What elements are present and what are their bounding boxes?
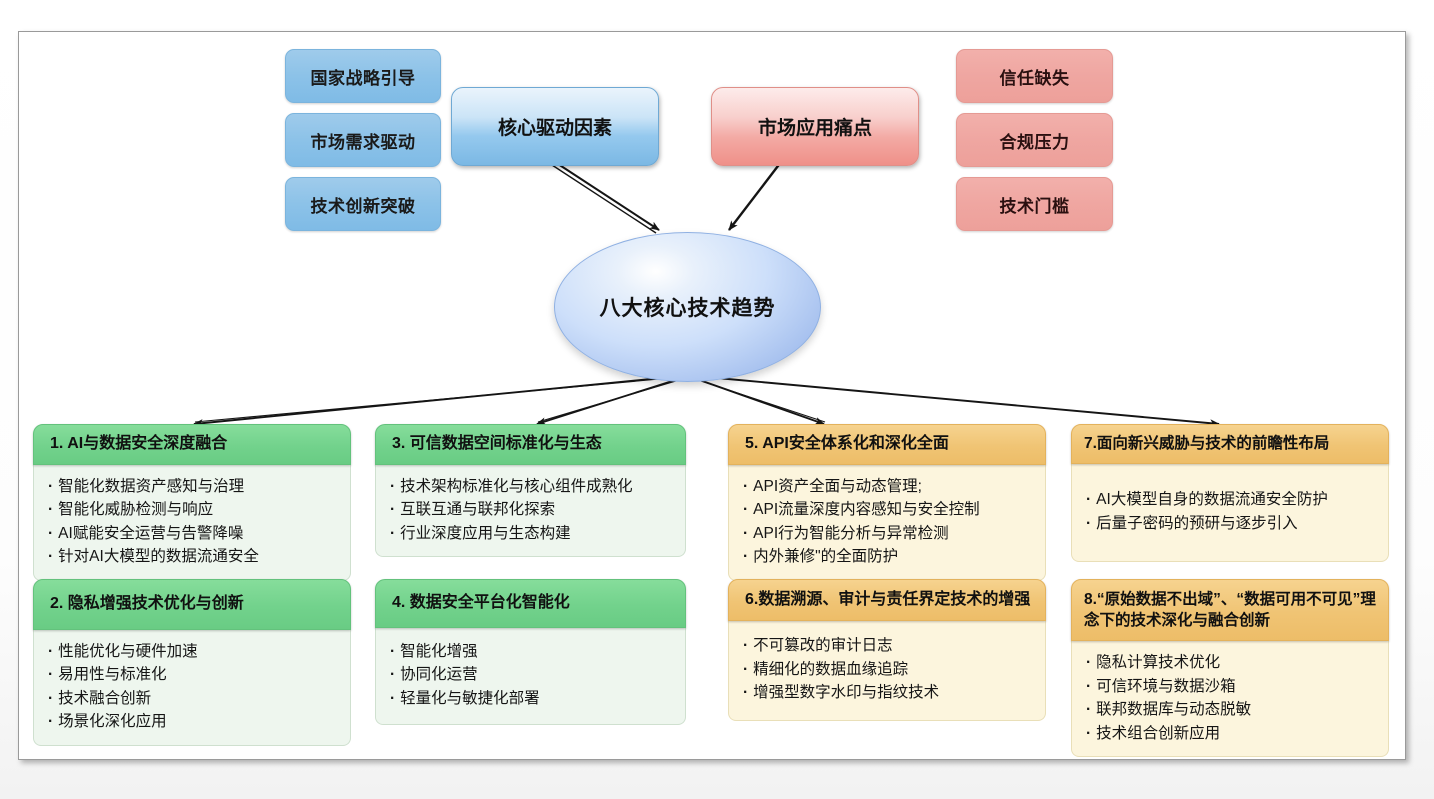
list-item: 针对AI大模型的数据流通安全	[48, 545, 340, 569]
painpoint-chip-1-label: 合规压力	[1000, 128, 1070, 153]
list-item: 技术架构标准化与核心组件成熟化	[390, 475, 675, 499]
market-painpoints-node[interactable]: 市场应用痛点	[711, 87, 919, 166]
trend-card-4-header: 4. 数据安全平台化智能化	[375, 579, 686, 628]
trend-card-4-list: 智能化增强 协同化运营 轻量化与敏捷化部署	[390, 640, 675, 711]
driver-chip-2-label: 技术创新突破	[311, 192, 416, 217]
list-item: 隐私计算技术优化	[1086, 651, 1378, 675]
list-item: 易用性与标准化	[48, 663, 340, 687]
trend-card-4[interactable]: 4. 数据安全平台化智能化 智能化增强 协同化运营 轻量化与敏捷化部署	[375, 579, 686, 725]
trend-card-6[interactable]: 6.数据溯源、审计与责任界定技术的增强 不可篡改的审计日志 精细化的数据血缘追踪…	[728, 579, 1046, 721]
central-hub-label: 八大核心技术趋势	[600, 292, 776, 322]
list-item: 后量子密码的预研与逐步引入	[1086, 512, 1378, 536]
list-item: 智能化增强	[390, 640, 675, 664]
trend-card-8[interactable]: 8.“原始数据不出域”、“数据可用不可见”理念下的技术深化与融合创新 隐私计算技…	[1071, 579, 1389, 757]
painpoint-chip-2-label: 技术门槛	[1000, 192, 1070, 217]
list-item: API流量深度内容感知与安全控制	[743, 498, 1035, 522]
trend-card-6-header: 6.数据溯源、审计与责任界定技术的增强	[728, 579, 1046, 621]
list-item: API资产全面与动态管理;	[743, 475, 1035, 499]
list-item: 协同化运营	[390, 663, 675, 687]
trend-card-7-body: AI大模型自身的数据流通安全防护 后量子密码的预研与逐步引入	[1071, 464, 1389, 562]
list-item: 不可篡改的审计日志	[743, 634, 1035, 658]
trend-card-3-list: 技术架构标准化与核心组件成熟化 互联互通与联邦化探索 行业深度应用与生态构建	[390, 475, 675, 546]
list-item: AI大模型自身的数据流通安全防护	[1086, 488, 1378, 512]
trend-card-3[interactable]: 3. 可信数据空间标准化与生态 技术架构标准化与核心组件成熟化 互联互通与联邦化…	[375, 424, 686, 557]
core-drivers-label: 核心驱动因素	[498, 113, 612, 140]
central-hub-node[interactable]: 八大核心技术趋势	[554, 232, 821, 382]
trend-card-2-header: 2. 隐私增强技术优化与创新	[33, 579, 351, 630]
trend-card-5-header: 5. API安全体系化和深化全面	[728, 424, 1046, 465]
list-item: 可信环境与数据沙箱	[1086, 675, 1378, 699]
trend-card-1[interactable]: 1. AI与数据安全深度融合 智能化数据资产感知与治理 智能化威胁检测与响应 A…	[33, 424, 351, 581]
list-item: 增强型数字水印与指纹技术	[743, 681, 1035, 705]
trend-card-8-body: 隐私计算技术优化 可信环境与数据沙箱 联邦数据库与动态脱敏 技术组合创新应用	[1071, 641, 1389, 757]
list-item: AI赋能安全运营与告警降噪	[48, 522, 340, 546]
list-item: 内外兼修"的全面防护	[743, 545, 1035, 569]
list-item: 轻量化与敏捷化部署	[390, 687, 675, 711]
list-item: 性能优化与硬件加速	[48, 640, 340, 664]
trend-card-3-header: 3. 可信数据空间标准化与生态	[375, 424, 686, 465]
list-item: 技术融合创新	[48, 687, 340, 711]
trend-card-8-header: 8.“原始数据不出域”、“数据可用不可见”理念下的技术深化与融合创新	[1071, 579, 1389, 641]
trend-card-3-body: 技术架构标准化与核心组件成熟化 互联互通与联邦化探索 行业深度应用与生态构建	[375, 465, 686, 558]
trend-card-5[interactable]: 5. API安全体系化和深化全面 API资产全面与动态管理; API流量深度内容…	[728, 424, 1046, 581]
driver-chip-1[interactable]: 市场需求驱动	[285, 113, 441, 167]
trend-card-2[interactable]: 2. 隐私增强技术优化与创新 性能优化与硬件加速 易用性与标准化 技术融合创新 …	[33, 579, 351, 746]
painpoint-chip-2[interactable]: 技术门槛	[956, 177, 1113, 231]
driver-chip-2[interactable]: 技术创新突破	[285, 177, 441, 231]
driver-chip-0[interactable]: 国家战略引导	[285, 49, 441, 103]
trend-card-7-list: AI大模型自身的数据流通安全防护 后量子密码的预研与逐步引入	[1086, 488, 1378, 535]
driver-chip-1-label: 市场需求驱动	[311, 128, 416, 153]
list-item: API行为智能分析与异常检测	[743, 522, 1035, 546]
trend-card-6-list: 不可篡改的审计日志 精细化的数据血缘追踪 增强型数字水印与指纹技术	[743, 634, 1035, 705]
painpoint-chip-0[interactable]: 信任缺失	[956, 49, 1113, 103]
list-item: 精细化的数据血缘追踪	[743, 658, 1035, 682]
list-item: 场景化深化应用	[48, 710, 340, 734]
trend-card-2-body: 性能优化与硬件加速 易用性与标准化 技术融合创新 场景化深化应用	[33, 630, 351, 746]
core-drivers-node[interactable]: 核心驱动因素	[451, 87, 659, 166]
list-item: 智能化数据资产感知与治理	[48, 475, 340, 499]
trend-card-1-header: 1. AI与数据安全深度融合	[33, 424, 351, 465]
list-item: 技术组合创新应用	[1086, 722, 1378, 746]
trend-card-7[interactable]: 7.面向新兴威胁与技术的前瞻性布局 AI大模型自身的数据流通安全防护 后量子密码…	[1071, 424, 1389, 562]
trend-card-4-body: 智能化增强 协同化运营 轻量化与敏捷化部署	[375, 628, 686, 726]
painpoint-chip-1[interactable]: 合规压力	[956, 113, 1113, 167]
trend-card-6-body: 不可篡改的审计日志 精细化的数据血缘追踪 增强型数字水印与指纹技术	[728, 621, 1046, 721]
trend-card-2-list: 性能优化与硬件加速 易用性与标准化 技术融合创新 场景化深化应用	[48, 640, 340, 734]
list-item: 互联互通与联邦化探索	[390, 498, 675, 522]
trend-card-7-header: 7.面向新兴威胁与技术的前瞻性布局	[1071, 424, 1389, 464]
diagram-canvas: 国家战略引导 市场需求驱动 技术创新突破 核心驱动因素 市场应用痛点 信任缺失 …	[18, 31, 1406, 760]
trend-card-5-body: API资产全面与动态管理; API流量深度内容感知与安全控制 API行为智能分析…	[728, 465, 1046, 581]
trend-card-1-list: 智能化数据资产感知与治理 智能化威胁检测与响应 AI赋能安全运营与告警降噪 针对…	[48, 475, 340, 569]
list-item: 联邦数据库与动态脱敏	[1086, 698, 1378, 722]
trend-card-5-list: API资产全面与动态管理; API流量深度内容感知与安全控制 API行为智能分析…	[743, 475, 1035, 569]
list-item: 智能化威胁检测与响应	[48, 498, 340, 522]
market-painpoints-label: 市场应用痛点	[758, 113, 872, 140]
trend-card-1-body: 智能化数据资产感知与治理 智能化威胁检测与响应 AI赋能安全运营与告警降噪 针对…	[33, 465, 351, 581]
driver-chip-0-label: 国家战略引导	[311, 64, 416, 89]
painpoint-chip-0-label: 信任缺失	[1000, 64, 1070, 89]
list-item: 行业深度应用与生态构建	[390, 522, 675, 546]
trend-card-8-list: 隐私计算技术优化 可信环境与数据沙箱 联邦数据库与动态脱敏 技术组合创新应用	[1086, 651, 1378, 745]
